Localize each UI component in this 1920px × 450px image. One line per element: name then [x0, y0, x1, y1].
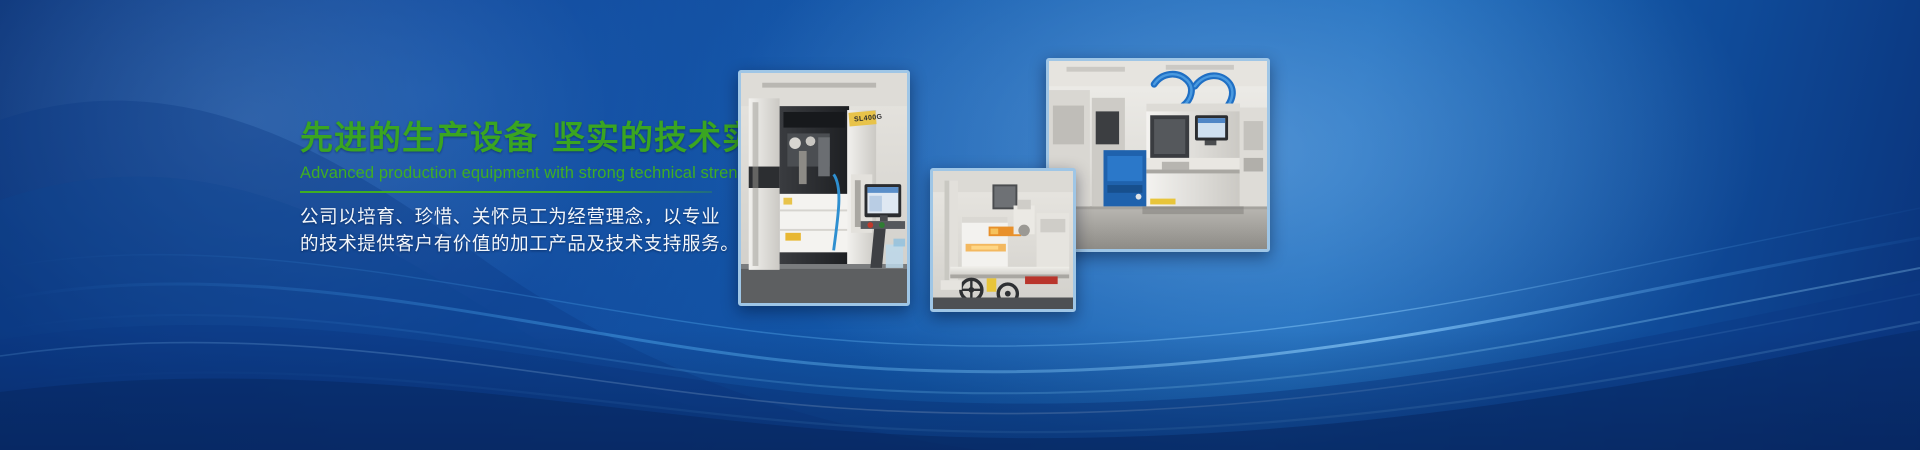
cnc-machine-image	[741, 73, 907, 303]
banner-description: 公司以培育、珍惜、关怀员工为经营理念，以专业 的技术提供客户有价值的加工产品及技…	[300, 205, 730, 259]
promo-banner: 先进的生产设备坚实的技术实力 Advanced production equip…	[0, 0, 1920, 450]
surface-grinder-image	[933, 171, 1073, 309]
headline-part-1: 先进的生产设备	[300, 119, 538, 156]
photo-edm-workshop	[1046, 58, 1270, 252]
headline-divider	[300, 191, 712, 193]
description-line-2: 的技术提供客户有价值的加工产品及技术支持服务。	[300, 232, 730, 259]
banner-copy-block: 先进的生产设备坚实的技术实力 Advanced production equip…	[300, 118, 730, 259]
photo-cnc-machine: SL400G	[738, 70, 910, 306]
photo-surface-grinder	[930, 168, 1076, 312]
banner-subheadline: Advanced production equipment with stron…	[300, 162, 730, 184]
description-line-1: 公司以培育、珍惜、关怀员工为经营理念，以专业	[300, 205, 730, 232]
banner-headline: 先进的生产设备坚实的技术实力	[300, 118, 730, 158]
edm-workshop-image	[1049, 61, 1267, 249]
